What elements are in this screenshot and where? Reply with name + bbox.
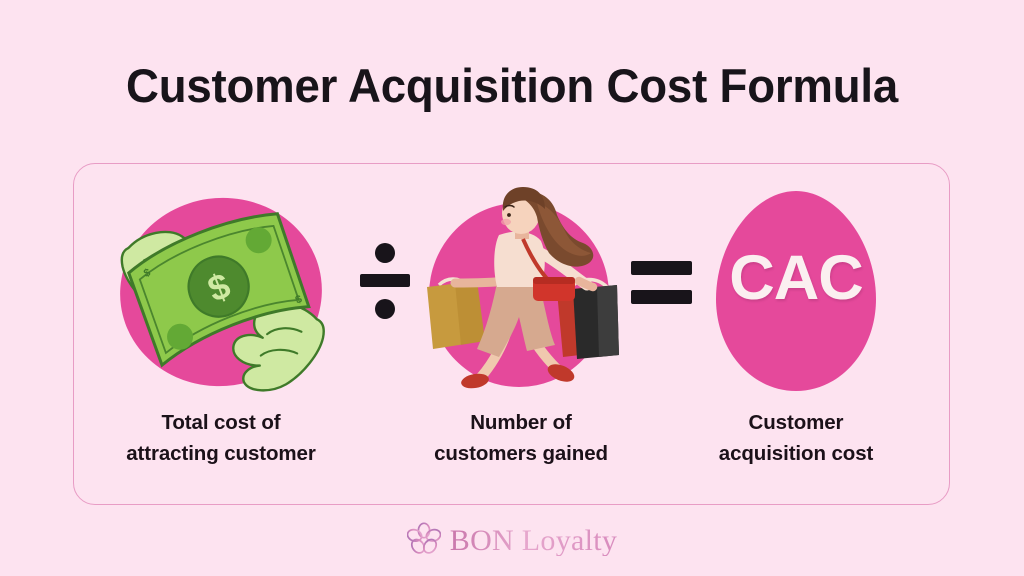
formula-term-customers-gained: Number of customers gained bbox=[411, 185, 631, 485]
caption-customer-acquisition-cost: Customer acquisition cost bbox=[671, 407, 921, 469]
footer-logo: BON Loyalty bbox=[0, 522, 1024, 559]
equals-bar-top bbox=[631, 261, 692, 275]
caption-customers-gained: Number of customers gained bbox=[396, 407, 646, 469]
shopping-woman-icon bbox=[411, 185, 631, 403]
cac-egg-icon: CAC bbox=[686, 185, 906, 403]
divide-operator-icon bbox=[358, 241, 418, 321]
equals-bar-bottom bbox=[631, 290, 692, 304]
logo-wordmark: BON Loyalty bbox=[450, 526, 617, 556]
divide-dot-bottom bbox=[375, 299, 395, 319]
infographic-canvas: Customer Acquisition Cost Formula bbox=[0, 0, 1024, 576]
caption-line-1: Total cost of bbox=[161, 411, 280, 434]
caption-line-2: attracting customer bbox=[126, 442, 315, 465]
formula-row: $ $ $ Total cost of attracting customer bbox=[73, 163, 950, 505]
flower-icon bbox=[407, 522, 441, 559]
caption-line-2: customers gained bbox=[434, 442, 608, 465]
page-title: Customer Acquisition Cost Formula bbox=[15, 58, 1008, 113]
caption-total-cost: Total cost of attracting customer bbox=[96, 407, 346, 469]
caption-line-1: Number of bbox=[470, 411, 572, 434]
flying-money-icon: $ $ $ bbox=[111, 185, 331, 403]
divide-dot-top bbox=[375, 243, 395, 263]
formula-term-total-cost: $ $ $ Total cost of attracting customer bbox=[111, 185, 331, 485]
caption-line-2: acquisition cost bbox=[719, 442, 873, 465]
cac-badge-text: CAC bbox=[696, 247, 896, 310]
caption-line-1: Customer bbox=[749, 411, 844, 434]
divide-bar bbox=[360, 274, 410, 287]
formula-term-customer-acquisition-cost: CAC Customer acquisition cost bbox=[686, 185, 906, 485]
